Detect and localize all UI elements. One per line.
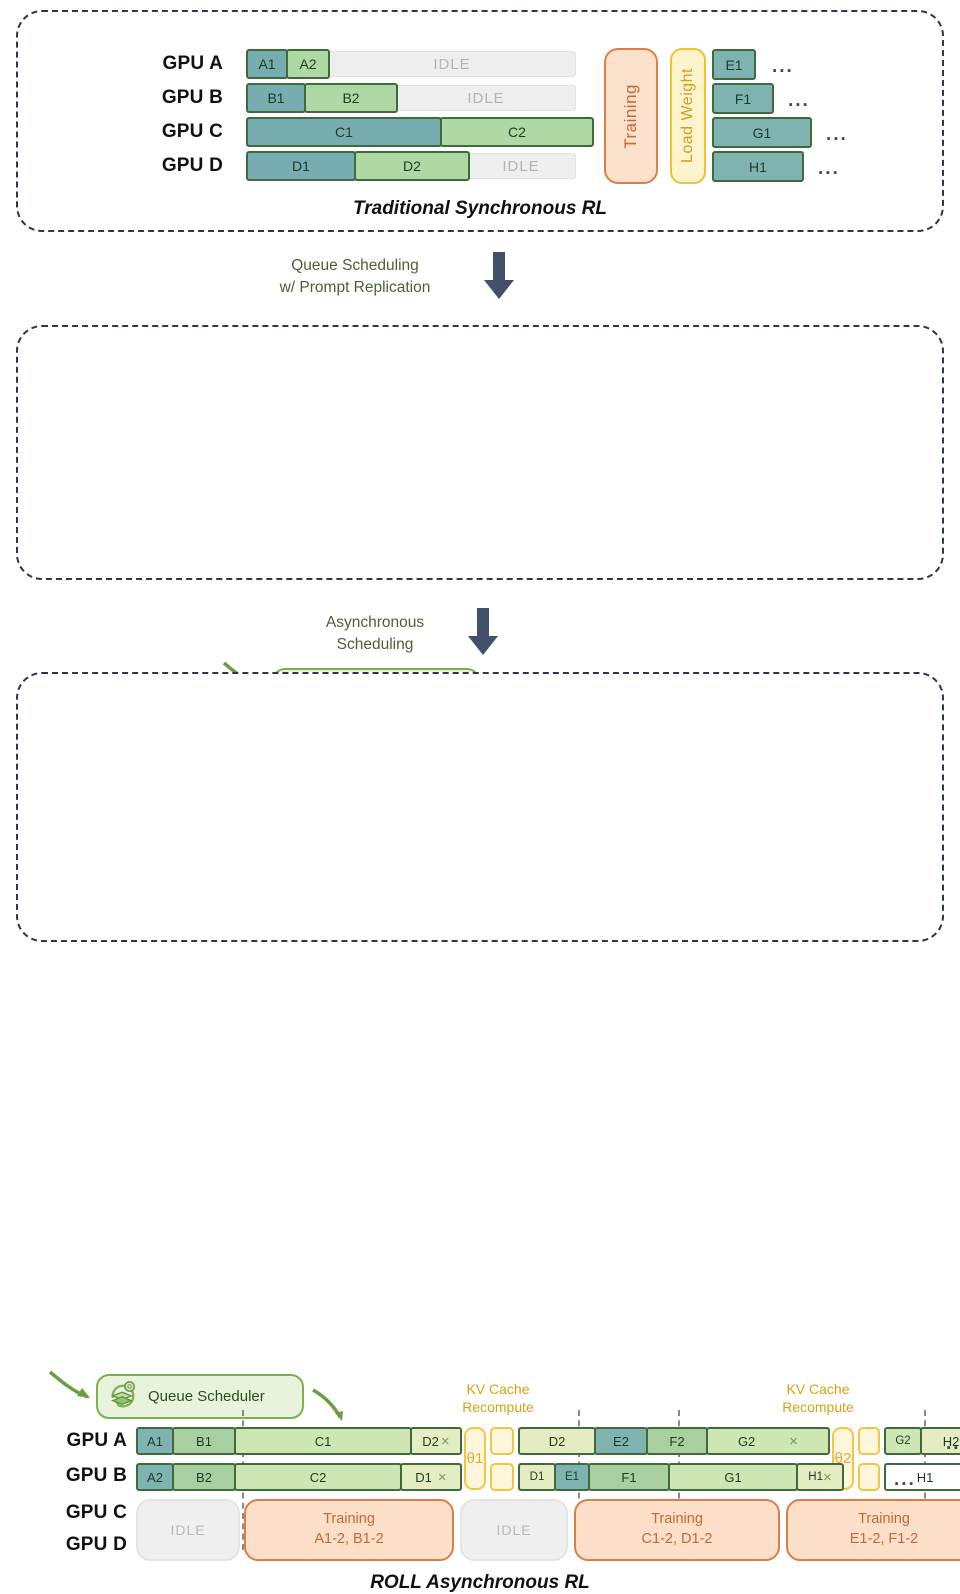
gpu-label-a-3: GPU A (42, 1426, 127, 1456)
load-weight-label: Load Weight (679, 68, 697, 163)
async-b-block-d1-dropped[interactable]: D1× (400, 1463, 462, 1491)
next-block-g1[interactable]: G1 (712, 117, 812, 148)
async-b-h1-label: H1 (808, 1471, 823, 1483)
panel-traditional-sync: GPU A GPU B GPU C GPU D IDLE A1 A2 E1 ..… (16, 10, 944, 232)
async-a-block-f2[interactable]: F2 (646, 1427, 708, 1455)
panel-roll-async: Queue Scheduler KV Cache Recompute KV Ca… (16, 672, 944, 942)
async-training-title-3: Training (858, 1510, 910, 1530)
async-a-block-a1[interactable]: A1 (136, 1427, 174, 1455)
async-b-block-c2[interactable]: C2 (234, 1463, 402, 1491)
scheduler-out-arrow-icon-3 (310, 1386, 354, 1428)
row-ellipsis-a: ... (772, 57, 794, 76)
async-training-block-3[interactable]: Training E1-2, F1-2 (786, 1499, 960, 1561)
async-b-block-a2[interactable]: A2 (136, 1463, 174, 1491)
task-block-a2[interactable]: A2 (286, 49, 330, 79)
next-block-h1[interactable]: H1 (712, 151, 804, 182)
async-a-block-g2-dropped[interactable]: G2× (706, 1427, 830, 1455)
queue-scheduler-icon-3 (108, 1379, 138, 1414)
gpu-label-b: GPU B (138, 83, 223, 113)
gpu-label-d: GPU D (138, 151, 223, 181)
async-a-block-d2-dropped[interactable]: D2× (410, 1427, 462, 1455)
async-training-title-1: Training (323, 1510, 375, 1530)
kv-cache-label-2: KV Cache Recompute (748, 1380, 888, 1416)
async-b-block-f1[interactable]: F1 (588, 1463, 670, 1491)
task-block-c2[interactable]: C2 (440, 117, 594, 147)
kv-cache-label-1: KV Cache Recompute (428, 1380, 568, 1416)
row-ellipsis-d: ... (818, 159, 840, 178)
async-a-g2-label: G2 (738, 1434, 755, 1449)
arrow-down-icon-2 (466, 608, 500, 656)
async-a-block-g2-2[interactable]: G2 (884, 1427, 922, 1455)
training-block[interactable]: Training (604, 48, 658, 184)
gpu-label-c-3: GPU C (42, 1498, 127, 1528)
panel-caption-roll-async: ROLL Asynchronous RL (18, 1572, 942, 1594)
kv-recompute-box-b1[interactable] (490, 1463, 514, 1491)
queue-scheduler-pill-3[interactable]: Queue Scheduler (96, 1374, 304, 1419)
training-label: Training (621, 84, 641, 149)
row-ellipsis-c: ... (826, 125, 848, 144)
task-block-b2[interactable]: B2 (304, 83, 398, 113)
task-block-d2[interactable]: D2 (354, 151, 470, 181)
panel-roll-sync: Queue Scheduler GPU A GPU B GPU C GPU D … (16, 325, 944, 580)
task-block-a1[interactable]: A1 (246, 49, 288, 79)
async-a-block-c1[interactable]: C1 (234, 1427, 412, 1455)
theta-box-1[interactable]: θ1 (464, 1427, 486, 1490)
load-weight-block[interactable]: Load Weight (670, 48, 706, 184)
async-training-block-2[interactable]: Training C1-2, D1-2 (574, 1499, 780, 1561)
task-block-d1[interactable]: D1 (246, 151, 356, 181)
async-a-block-d2[interactable]: D2 (518, 1427, 596, 1455)
async-a-block-e2[interactable]: E2 (594, 1427, 648, 1455)
async-training-detail-1: A1-2, B1-2 (314, 1530, 383, 1550)
queue-scheduler-label-3: Queue Scheduler (148, 1388, 265, 1405)
kv-recompute-box-b2[interactable] (858, 1463, 880, 1491)
drop-x-icon-1: × (441, 1433, 450, 1450)
gpu-label-c: GPU C (138, 117, 223, 147)
async-b-block-b2[interactable]: B2 (172, 1463, 236, 1491)
async-training-detail-3: E1-2, F1-2 (850, 1530, 919, 1550)
async-idle-block-1: IDLE (136, 1499, 240, 1561)
kv-recompute-box-a2[interactable] (858, 1427, 880, 1455)
async-b-d1-label: D1 (415, 1470, 432, 1485)
async-b-block-h1-dropped[interactable]: H1× (796, 1463, 844, 1491)
drop-x-icon-4: × (823, 1469, 832, 1486)
gpu-label-b-3: GPU B (42, 1461, 127, 1491)
drop-x-icon-3: × (438, 1469, 447, 1486)
transition-label-1: Queue Scheduling w/ Prompt Replication (180, 255, 530, 300)
async-training-title-2: Training (651, 1510, 703, 1530)
async-a-ellipsis: ... (946, 1434, 960, 1453)
kv-recompute-box-a1[interactable] (490, 1427, 514, 1455)
async-training-detail-2: C1-2, D1-2 (642, 1530, 713, 1550)
task-block-c1[interactable]: C1 (246, 117, 442, 147)
down-arrow-1 (482, 252, 516, 305)
row-ellipsis-b: ... (788, 91, 810, 110)
gpu-label-d-3: GPU D (42, 1530, 127, 1560)
drop-x-icon-2: × (789, 1433, 798, 1450)
scheduler-in-arrow-icon-3 (46, 1366, 96, 1406)
async-b-block-g1[interactable]: G1 (668, 1463, 798, 1491)
async-a-d2-label: D2 (422, 1434, 439, 1449)
down-arrow-2 (466, 608, 500, 661)
panel-caption-traditional: Traditional Synchronous RL (18, 198, 942, 220)
idle-block-d: IDLE (466, 153, 576, 179)
async-b-block-e1[interactable]: E1 (554, 1463, 590, 1491)
async-training-block-1[interactable]: Training A1-2, B1-2 (244, 1499, 454, 1561)
gpu-label-a: GPU A (138, 49, 223, 79)
theta-label-1: θ1 (467, 1450, 484, 1467)
async-b-block-d1[interactable]: D1 (518, 1463, 556, 1491)
idle-block-b: IDLE (396, 85, 576, 111)
idle-block-a: IDLE (328, 51, 576, 77)
next-block-f1[interactable]: F1 (712, 83, 774, 114)
async-b-ellipsis: ... (894, 1470, 916, 1489)
async-idle-block-2: IDLE (460, 1499, 568, 1561)
next-block-e1[interactable]: E1 (712, 49, 756, 80)
task-block-b1[interactable]: B1 (246, 83, 306, 113)
arrow-down-icon (482, 252, 516, 300)
async-a-block-b1[interactable]: B1 (172, 1427, 236, 1455)
